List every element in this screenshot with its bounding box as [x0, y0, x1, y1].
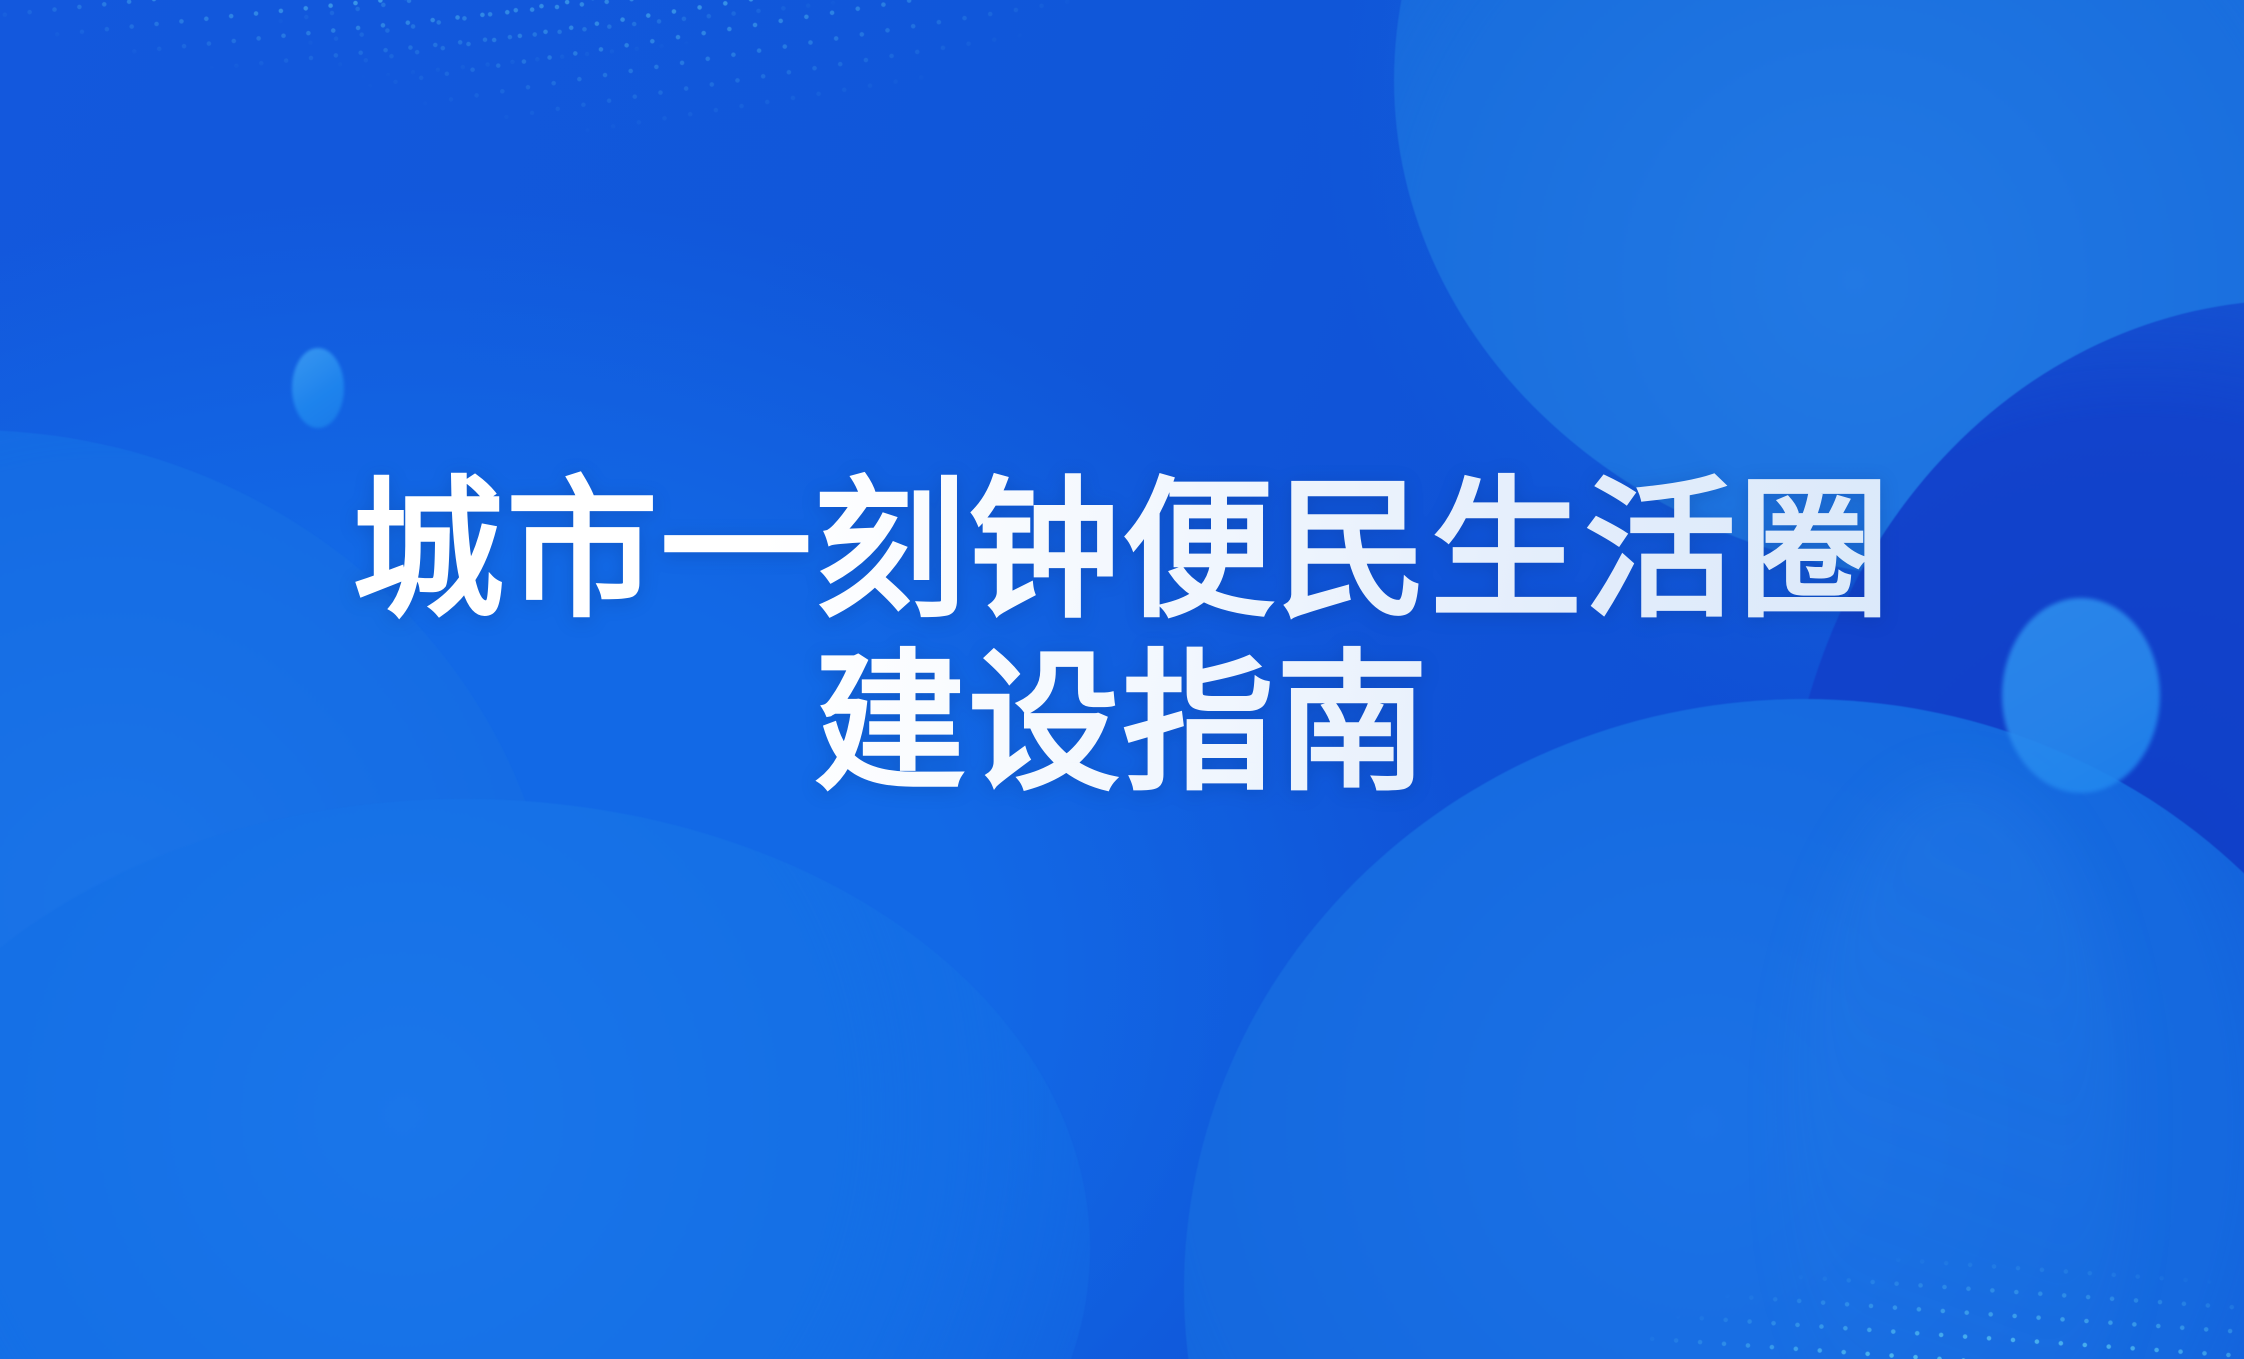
title-line-2: 建设指南	[0, 643, 2244, 806]
halftone-dots-bottom-right	[1509, 1030, 2244, 1359]
banner-poster: 城市一刻钟便民生活圈 建设指南	[0, 0, 2244, 1359]
poster-title: 城市一刻钟便民生活圈 建设指南	[0, 470, 2244, 806]
title-line-1: 城市一刻钟便民生活圈	[0, 470, 2244, 633]
